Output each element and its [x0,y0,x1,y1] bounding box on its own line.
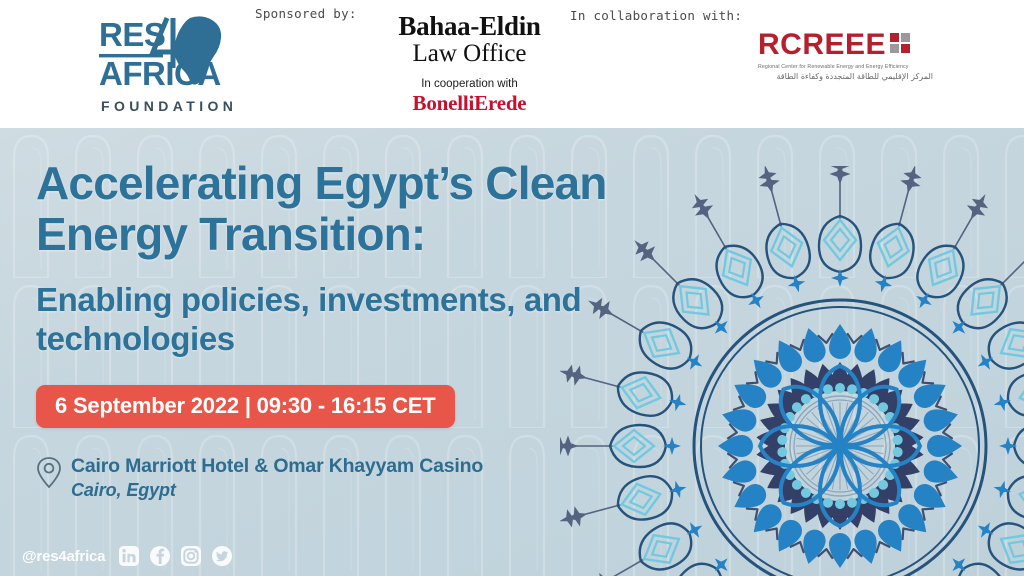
bahaa-eldin-law-office-logo: Bahaa-Eldin Law Office [382,12,557,68]
venue-name: Cairo Marriott Hotel & Omar Khayyam Casi… [71,455,483,477]
twitter-icon[interactable] [212,546,232,566]
rcreee-wordmark: RCREEE [758,30,886,60]
cooperation-label: In cooperation with [382,78,557,92]
social-handle: @res4africa [22,548,105,565]
rcreee-tagline-en: Regional Center for Renewable Energy and… [758,64,933,70]
hero-content: Accelerating Egypt’s Clean Energy Transi… [36,158,756,502]
venue-city: Cairo, Egypt [71,480,176,500]
bonelli-erede-logo: BonelliErede [382,92,557,116]
sponsor-name-line1: Bahaa-Eldin [382,12,557,40]
rcreee-squares-icon [890,33,910,53]
rcreee-tagline-ar: المركز الإقليمي للطاقة المتجددة وكفاءة ا… [758,72,933,81]
poster-hero: Accelerating Egypt’s Clean Energy Transi… [0,128,1024,576]
svg-text:AFRICA: AFRICA [99,55,221,92]
collaboration-label: In collaboration with: [570,8,742,23]
instagram-icon[interactable] [181,546,201,566]
location-pin-icon [36,456,62,495]
res4africa-logo: RES AFRICA FOUNDATION [95,12,245,116]
venue-block: Cairo Marriott Hotel & Omar Khayyam Casi… [36,454,756,502]
event-poster: RES AFRICA FOUNDATION Sponsored by: Baha… [0,0,1024,576]
subtitle-line-1: Enabling policies, investments, and [36,281,581,318]
sponsored-by-label: Sponsored by: [255,6,357,21]
sponsor-name-line2: Law Office [382,40,557,68]
facebook-icon[interactable] [150,546,170,566]
poster-header: RES AFRICA FOUNDATION Sponsored by: Baha… [0,0,1024,128]
title-line-2: Energy Transition: [36,208,425,260]
event-date-badge: 6 September 2022 | 09:30 - 16:15 CET [36,385,455,428]
social-bar: @res4africa [22,546,232,566]
title-line-1: Accelerating Egypt’s Clean [36,157,607,209]
cooperation-block: In cooperation with BonelliErede [382,78,557,115]
rcreee-logo: RCREEE Regional Center for Renewable Ene… [758,30,933,81]
page-subtitle: Enabling policies, investments, and tech… [36,281,756,359]
svg-text:FOUNDATION: FOUNDATION [101,98,237,114]
page-title: Accelerating Egypt’s Clean Energy Transi… [36,158,756,259]
subtitle-line-2: technologies [36,320,235,357]
linkedin-icon[interactable] [119,546,139,566]
